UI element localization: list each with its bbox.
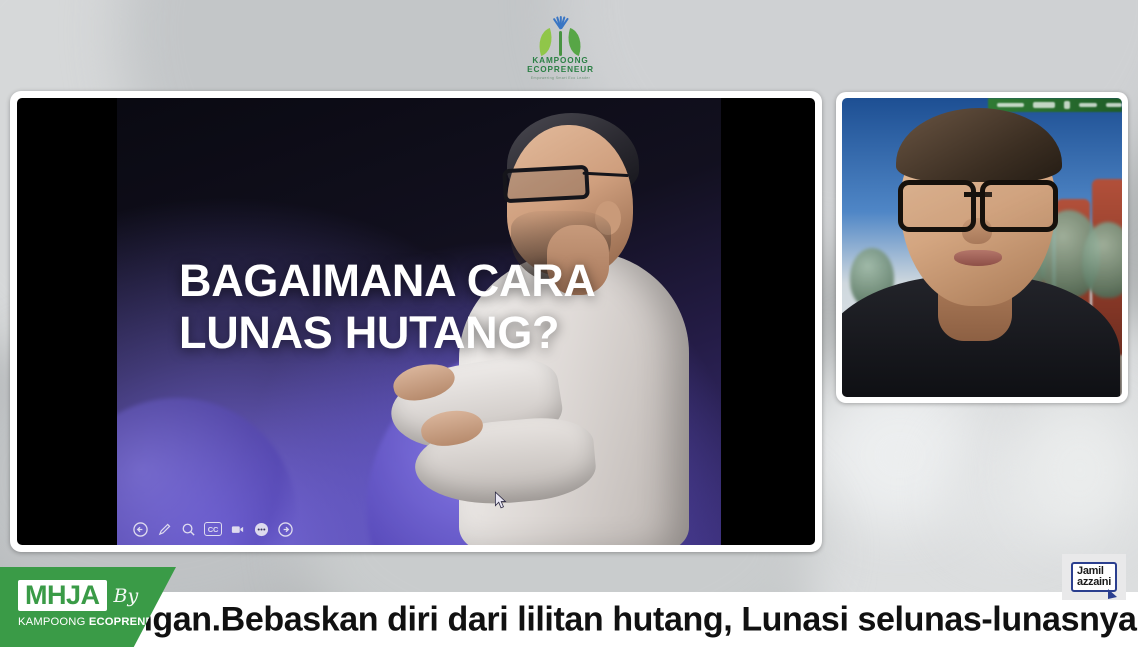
mouse-cursor	[494, 491, 508, 509]
slide-title-line-1: BAGAIMANA CARA	[179, 255, 609, 307]
caption-bar: ngan.Bebaskan diri dari lilitan hutang, …	[0, 592, 1138, 647]
kampoong-ecopreneur-logo: KAMPOONG ECOPRENEUR Empowering Smart Eco…	[527, 12, 594, 80]
webcam-video	[842, 98, 1122, 397]
slide-title: BAGAIMANA CARA LUNAS HUTANG?	[179, 255, 609, 359]
caption-text: ngan.Bebaskan diri dari lilitan hutang, …	[132, 600, 1138, 639]
logo-line-1: KAMPOONG	[527, 56, 594, 65]
logo-line-2: ECOPRENEUR	[527, 65, 594, 74]
zoom-magnifier-icon[interactable]	[180, 521, 197, 538]
presentation-slide: BAGAIMANA CARA LUNAS HUTANG?	[117, 98, 721, 545]
webcam-tile[interactable]	[836, 92, 1128, 403]
forward-arrow-icon[interactable]	[277, 521, 294, 538]
webcam-background-banner	[988, 98, 1122, 112]
jamil-line-2: azzaini	[1077, 577, 1111, 588]
logo-tagline: Empowering Smart Eco Leader	[527, 76, 594, 80]
mhja-org-light: KAMPOONG	[18, 616, 89, 628]
video-camera-icon[interactable]	[229, 521, 246, 538]
logo-rays-icon	[527, 12, 594, 29]
share-toolbar[interactable]: CC	[128, 519, 298, 539]
slide-title-line-2: LUNAS HUTANG?	[179, 307, 609, 359]
cc-label: CC	[208, 525, 218, 534]
annotate-pencil-icon[interactable]	[156, 521, 173, 538]
mhja-brand: MHJA	[18, 580, 107, 611]
webcam-person-glasses	[898, 180, 1058, 222]
more-options-icon[interactable]	[253, 521, 270, 538]
screen-share-content: BAGAIMANA CARA LUNAS HUTANG?	[17, 98, 815, 545]
screen-share-window[interactable]: BAGAIMANA CARA LUNAS HUTANG?	[10, 91, 822, 552]
back-arrow-icon[interactable]	[132, 521, 149, 538]
mhja-by-label: By	[114, 585, 139, 607]
logo-leaf-icon	[527, 29, 594, 55]
jamil-azzaini-logo: Jamil azzaini	[1062, 554, 1126, 600]
closed-caption-icon[interactable]: CC	[204, 522, 222, 536]
